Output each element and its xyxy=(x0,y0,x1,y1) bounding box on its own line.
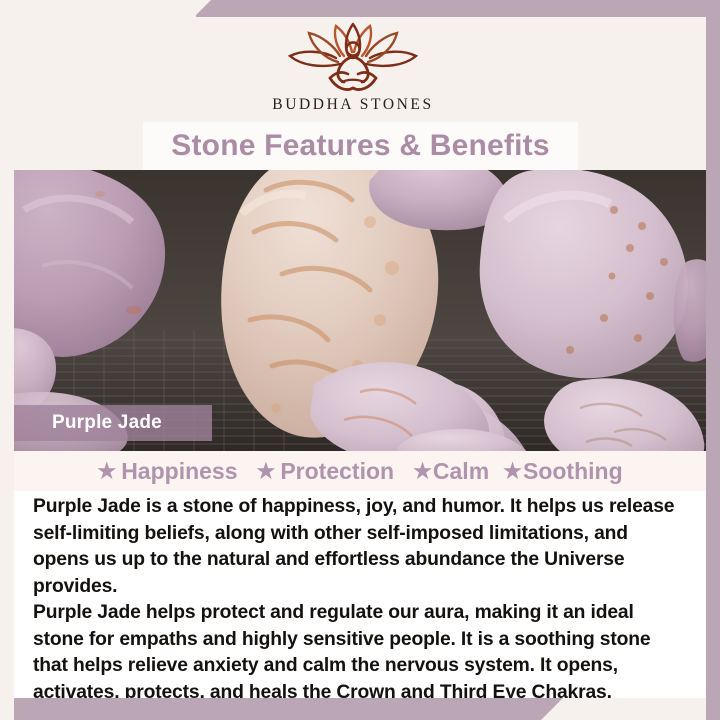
infographic-page: BUDDHA STONES Stone Features & Benefits xyxy=(0,0,720,720)
benefit-item: ★ Protection xyxy=(257,458,395,485)
benefit-item: ★ Soothing xyxy=(503,458,622,485)
brand-name: BUDDHA STONES xyxy=(272,96,433,114)
brand-logo: BUDDHA STONES xyxy=(0,22,706,114)
bottom-cream-block xyxy=(563,698,706,720)
star-icon: ★ xyxy=(97,461,116,482)
benefit-label: Protection xyxy=(280,458,394,485)
star-icon: ★ xyxy=(413,461,432,482)
description-area: Purple Jade is a stone of happiness, joy… xyxy=(14,491,706,698)
benefits-row: ★ Happiness ★ Protection ★ Calm ★ Soothi… xyxy=(14,451,706,491)
lotus-meditation-icon xyxy=(278,22,428,94)
top-corner-diagonal-notch xyxy=(193,0,211,18)
description-paragraph-1: Purple Jade is a stone of happiness, joy… xyxy=(33,494,682,600)
benefit-item: ★ Calm xyxy=(413,458,489,485)
page-title: Stone Features & Benefits xyxy=(171,129,549,163)
benefit-label: Calm xyxy=(433,458,489,485)
benefit-label: Happiness xyxy=(121,458,237,485)
title-banner: Stone Features & Benefits xyxy=(143,122,578,170)
top-left-cream-block xyxy=(0,0,196,18)
bottom-bar-diagonal-end xyxy=(541,698,563,720)
star-icon: ★ xyxy=(257,461,276,482)
stone-name-label: Purple Jade xyxy=(14,412,162,434)
description-paragraph-2: Purple Jade helps protect and regulate o… xyxy=(33,600,682,706)
benefit-label: Soothing xyxy=(523,458,623,485)
benefit-item: ★ Happiness xyxy=(97,458,237,485)
star-icon: ★ xyxy=(503,461,522,482)
stone-name-tag: Purple Jade xyxy=(14,405,212,441)
bottom-accent-bar xyxy=(14,698,541,720)
